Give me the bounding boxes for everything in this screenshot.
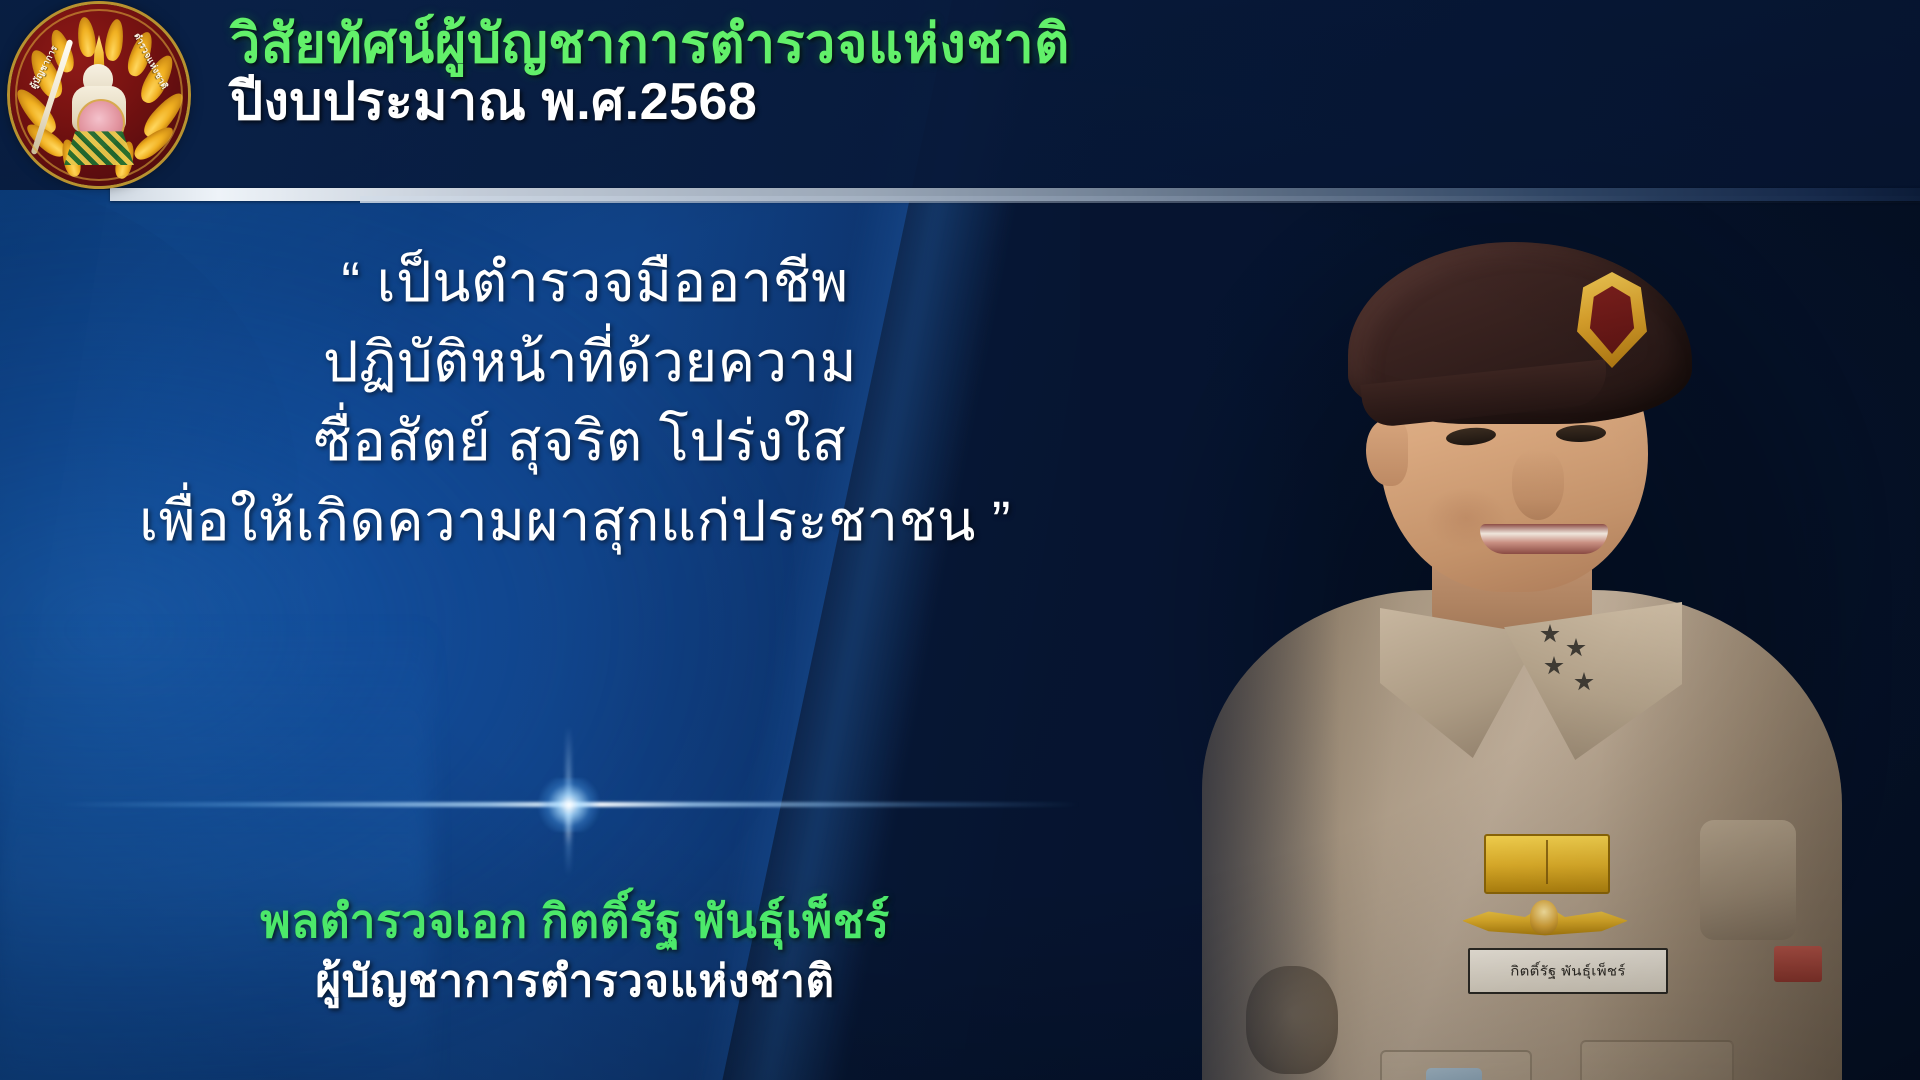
royal-thai-police-emblem: ผู้บัญชาการ ตำรวจแห่งชาติ [10,4,188,186]
emblem-disc: ผู้บัญชาการ ตำรวจแห่งชาติ [10,4,188,186]
vision-poster: กิตติ์รัฐ พันธุ์เพ็ชร์ ผู้บัญชาการ [0,0,1920,1080]
header-title-line2: ปีงบประมาณ พ.ศ.2568 [230,74,1730,131]
quote-line-4: เพื่อให้เกิดความผาสุกแก่ประชาชน ” [0,481,1150,561]
emblem-ring [15,9,183,181]
commissioner-general-portrait: กิตติ์รัฐ พันธุ์เพ็ชร์ [1080,120,1920,1080]
uniform-pocket-right [1580,1040,1734,1080]
quote-line-1: “ เป็นตำรวจมืออาชีพ [0,242,1150,322]
arm-patch-red-accent [1774,946,1822,982]
ear [1366,420,1408,486]
signature-name: พลตำรวจเอก กิตติ์รัฐ พันธุ์เพ็ชร์ [0,890,1150,952]
signature-block: พลตำรวจเอก กิตติ์รัฐ พันธุ์เพ็ชร์ ผู้บัญ… [0,890,1150,1011]
shoulder-patch [1246,966,1338,1074]
uniform-nametag-text: กิตติ์รัฐ พันธุ์เพ็ชร์ [1510,960,1626,982]
chest-rank-plate-icon [1484,834,1610,894]
silver-divider-bar [110,188,1920,201]
quote-line-3: ซื่อสัตย์ สุจริต โปร่งใส [0,401,1150,481]
signature-title: ผู้บัญชาการตำรวจแห่งชาติ [0,952,1150,1011]
arm-patch [1700,820,1796,940]
quote-line-2: ปฏิบัติหน้าที่ด้วยความ [0,322,1150,402]
nose [1512,450,1564,520]
vision-quote-block: “ เป็นตำรวจมืออาชีพ ปฏิบัติหน้าที่ด้วยคว… [0,242,1150,560]
uniform-blue-badge [1426,1068,1482,1080]
mouth [1480,524,1608,554]
silver-divider-highlight [360,196,1920,203]
uniform-nametag: กิตติ์รัฐ พันธุ์เพ็ชร์ [1468,948,1668,994]
header-title-line1: วิสัยทัศน์ผู้บัญชาการตำรวจแห่งชาติ [230,14,1730,74]
header-title-block: วิสัยทัศน์ผู้บัญชาการตำรวจแห่งชาติ ปีงบป… [230,14,1730,132]
rank-stars-icon [1532,620,1652,710]
wing-badge-center [1530,900,1558,934]
